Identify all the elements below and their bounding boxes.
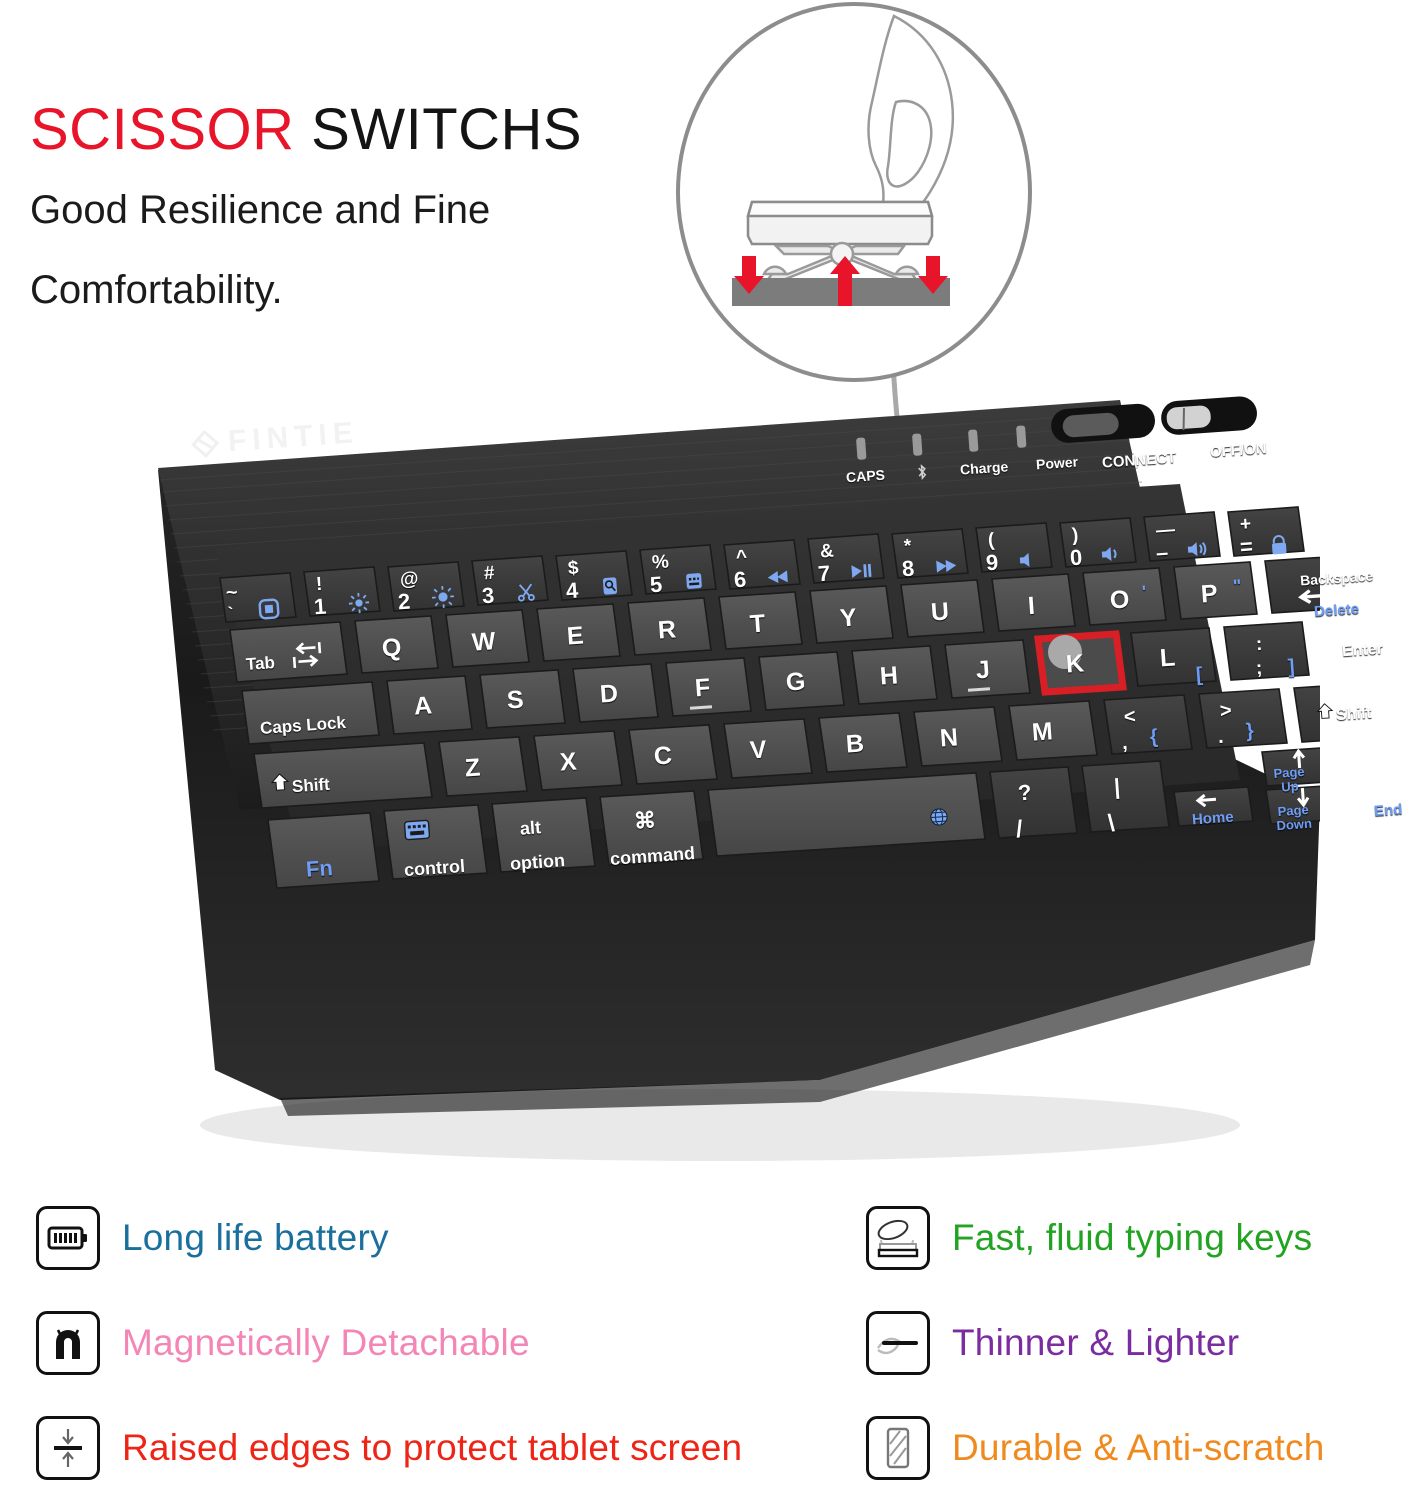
key-p[interactable]: P [1200,579,1219,609]
rewind-icon [765,567,790,587]
page-title: SCISSOR SWITCHS [30,100,670,161]
feature-column-left: Long life battery Magnetically Detachabl… [36,1185,856,1500]
key-shift-right[interactable]: Shift [1335,705,1372,725]
shift-arrow-icon [269,771,290,792]
power-switch-label[interactable]: OFF/ON [1209,440,1267,461]
headline-block: SCISSOR SWITCHS Good Resilience and Fine… [30,100,670,321]
mute-icon [1099,545,1122,562]
key-3[interactable]: 3 [481,583,495,610]
title-rest: SWITCHS [295,97,583,162]
thin-profile-icon [866,1311,930,1375]
key-option[interactable]: option [509,850,565,875]
key-home[interactable]: Home [1191,809,1234,829]
feature-list: Long life battery Magnetically Detachabl… [0,1185,1405,1500]
feature-fast-fluid-typing: Fast, fluid typing keys [866,1185,1396,1290]
key-y[interactable]: Y [839,603,858,633]
keyboard-toggle-icon [683,570,704,591]
key-comma[interactable]: , [1121,732,1128,755]
key-m[interactable]: M [1031,717,1054,747]
key-fn[interactable]: Fn [305,855,334,883]
key-9[interactable]: 9 [985,550,999,577]
globe-icon [929,807,948,826]
power-indicator-label: Power [1035,454,1078,473]
key-u[interactable]: U [930,597,950,627]
key-tab[interactable]: Tab [245,653,275,675]
key-a[interactable]: A [413,691,433,721]
key-caps-lock[interactable]: Caps Lock [259,713,346,739]
key-alt: alt [519,817,541,839]
key-3-shift: # [483,563,495,586]
key-period[interactable]: . [1217,726,1224,749]
key-c[interactable]: C [653,741,673,771]
search-icon [599,575,620,596]
feature-magnetically-detachable: Magnetically Detachable [36,1290,856,1395]
key-t[interactable]: T [749,610,766,640]
fintie-diamond-icon [189,428,221,460]
key-4[interactable]: 4 [565,578,579,605]
scissor-switch-callout [676,2,1032,382]
key-l[interactable]: L [1159,644,1176,674]
raised-edge-icon [36,1416,100,1480]
volume-down-icon [1017,551,1036,568]
key-2[interactable]: 2 [397,589,411,616]
key-j[interactable]: J [975,656,991,686]
lock-icon [1269,534,1288,555]
volume-up-icon [1185,540,1212,558]
battery-icon [36,1206,100,1270]
key-command[interactable]: command [609,843,695,870]
key-w[interactable]: W [471,627,497,658]
key-l-alt: [ [1195,664,1203,687]
key-tilde[interactable]: ~ [225,582,238,606]
key-pipe: | [1113,774,1121,800]
title-highlight: SCISSOR [30,97,295,162]
key-enter[interactable]: Enter [1341,641,1383,662]
key-comma-alt: { [1149,726,1158,749]
key-5[interactable]: 5 [649,572,663,599]
key-v[interactable]: V [749,735,768,765]
key-s[interactable]: S [506,685,525,715]
key-o[interactable]: O [1109,585,1130,615]
arrow-up-icon [1291,748,1307,771]
key-4-shift: $ [567,558,579,581]
brightness-up-icon [431,585,454,608]
key-shift-left[interactable]: Shift [291,775,330,798]
key-0-shift: ) [1071,525,1079,547]
key-2-shift: @ [399,568,419,591]
feature-label: Magnetically Detachable [122,1324,530,1361]
arrow-down-icon [1295,786,1311,809]
key-legends: FINTIE CAPS Charge Power CONNECT OFF/ON … [120,380,1320,1170]
key-8[interactable]: 8 [901,556,915,583]
key-k[interactable]: K [1065,649,1085,679]
key-f[interactable]: F [694,674,711,704]
bluetooth-icon [915,464,928,481]
connect-button-label[interactable]: CONNECT [1101,449,1176,471]
scissor-switch-diagram [680,6,1028,378]
fast-forward-icon [933,556,958,576]
key-period-alt: } [1245,720,1254,743]
arrow-left-icon [1194,793,1219,808]
feature-label: Fast, fluid typing keys [952,1219,1312,1256]
key-semicolon[interactable]: ; [1255,658,1263,680]
key-n[interactable]: N [939,723,959,753]
key-r[interactable]: R [657,615,677,645]
keycap-illustration [748,202,932,244]
key-semicolon-shift: : [1255,634,1263,656]
key-tilde-alt: ` [227,604,234,624]
key-slash[interactable]: / [1015,816,1024,844]
feature-label: Durable & Anti-scratch [952,1429,1325,1466]
play-pause-icon [849,561,872,580]
keyboard-illustration: FINTIE CAPS Charge Power CONNECT OFF/ON … [120,380,1320,1170]
finger-illustration [869,16,953,218]
key-b[interactable]: B [845,729,865,759]
key-e[interactable]: E [566,621,585,651]
key-5-shift: % [651,551,669,574]
keyboard-icon [403,819,430,841]
key-period-shift: > [1219,700,1232,724]
home-icon [257,597,280,620]
key-delete: Delete [1313,600,1359,620]
key-comma-shift: < [1123,706,1136,730]
key-x[interactable]: X [559,747,578,777]
key-j-homing-bar [968,687,990,692]
key-equals[interactable]: = [1239,534,1254,561]
key-semicolon-alt: ] [1287,656,1295,679]
charge-indicator-label: Charge [960,458,1009,477]
key-9-shift: ( [987,530,995,552]
caps-indicator-label: CAPS [845,467,885,486]
brand-logo: FINTIE [189,416,360,462]
brightness-down-icon [347,591,370,614]
key-6-shift: ^ [735,547,748,570]
key-z[interactable]: Z [464,754,481,784]
key-minus-shift: — [1155,519,1175,542]
key-7-shift: & [819,541,834,564]
key-q[interactable]: Q [381,633,402,663]
key-command-symbol: ⌘ [633,807,657,834]
magnet-icon [36,1311,100,1375]
key-8-shift: * [903,536,912,558]
feature-column-right: Fast, fluid typing keys Thinner & Lighte… [866,1185,1396,1500]
key-p-alt: " [1232,576,1242,598]
feature-thinner-lighter: Thinner & Lighter [866,1290,1396,1395]
key-control[interactable]: control [403,856,465,881]
cut-scissors-icon [515,581,536,602]
key-minus[interactable]: – [1155,540,1169,567]
feature-label: Raised edges to protect tablet screen [122,1429,742,1466]
feature-label: Thinner & Lighter [952,1324,1239,1361]
key-0[interactable]: 0 [1069,545,1083,572]
key-6[interactable]: 6 [733,567,747,594]
key-h[interactable]: H [879,661,899,691]
key-f-homing-bar [690,705,712,710]
key-g[interactable]: G [785,667,806,697]
key-7[interactable]: 7 [817,561,831,588]
scratch-resistant-icon [866,1416,930,1480]
key-equals-shift: + [1239,514,1252,537]
key-o-alt: ' [1141,582,1147,603]
key-i[interactable]: I [1027,592,1036,621]
promo-image: SCISSOR SWITCHS Good Resilience and Fine… [0,0,1405,1500]
key-d[interactable]: D [599,679,619,709]
key-end[interactable]: End [1373,801,1402,820]
key-backslash[interactable]: \ [1107,810,1116,838]
backspace-arrow-icon [1296,586,1369,605]
subtitle-line-1: Good Resilience and Fine [30,179,670,241]
brand-name: FINTIE [227,416,360,459]
key-1[interactable]: 1 [313,594,327,621]
keypress-icon [866,1206,930,1270]
feature-raised-edges: Raised edges to protect tablet screen [36,1395,856,1500]
feature-durable-anti-scratch: Durable & Anti-scratch [866,1395,1396,1500]
key-1-shift: ! [315,574,323,596]
arrow-right-icon [1370,785,1395,800]
shift-arrow-right-icon [1315,701,1334,720]
tab-arrows-icon [289,641,327,669]
subtitle-line-2: Comfortability. [30,259,670,321]
feature-long-life-battery: Long life battery [36,1185,856,1290]
key-question-shift: ? [1017,780,1032,807]
feature-label: Long life battery [122,1219,389,1256]
